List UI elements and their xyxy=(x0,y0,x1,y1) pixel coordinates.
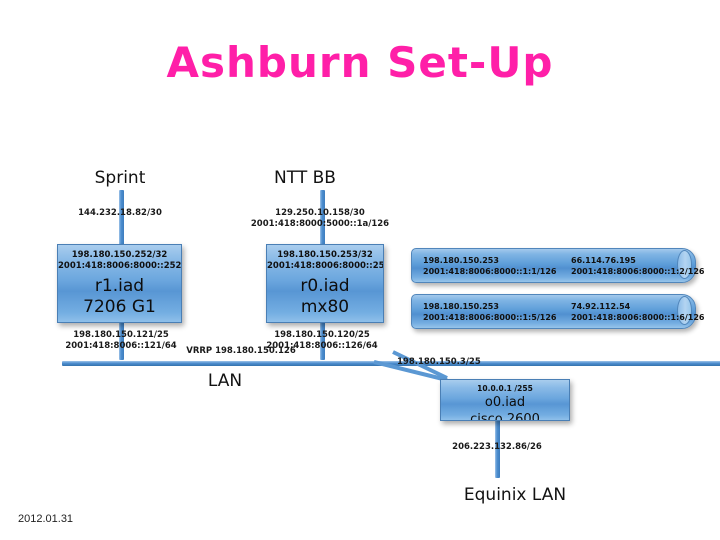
tunnel-2-remote-endpoint: 74.92.112.54 2001:418:8006:8000::1:6/126 xyxy=(571,301,704,323)
tunnel-2-local-v6: 2001:418:8006:8000::1:5/126 xyxy=(423,312,556,323)
tunnel-2-local-endpoint: 198.180.150.253 2001:418:8006:8000::1:5/… xyxy=(423,301,556,323)
network-label-equinix-lan: Equinix LAN xyxy=(415,485,615,505)
node-r0-model: mx80 xyxy=(267,297,383,318)
page-title: Ashburn Set-Up xyxy=(0,38,720,87)
network-label-ntt-bb: NTT BB xyxy=(235,168,375,188)
tunnel-2-local-v4: 198.180.150.253 xyxy=(423,301,556,312)
link-label-sprint-uplink: 144.232.18.82/30 xyxy=(60,208,180,219)
node-o0-model: cisco 2600 xyxy=(441,411,569,421)
link-label-o0-to-equinix: 206.223.132.86/26 xyxy=(437,442,557,453)
node-o0-ip-v4: 10.0.0.1 /255 xyxy=(441,384,569,394)
node-r1-iad[interactable]: 198.180.150.252/32 2001:418:8006:8000::2… xyxy=(57,244,182,323)
tunnel-1-remote-v6: 2001:418:8006:8000::1:2/126 xyxy=(571,266,704,277)
link-label-r1-lan: 198.180.150.121/25 2001:418:8006::121/64 xyxy=(56,330,186,352)
node-o0-hostname: o0.iad xyxy=(441,394,569,411)
node-r0-ip-v4: 198.180.150.253/32 xyxy=(267,250,383,261)
tunnel-2-remote-v4: 74.92.112.54 xyxy=(571,301,704,312)
link-label-line1: 198.180.150.121/25 xyxy=(56,330,186,341)
node-r0-iad[interactable]: 198.180.150.253/32 2001:418:8006:8000::2… xyxy=(266,244,384,323)
link-label-line1: 144.232.18.82/30 xyxy=(60,208,180,219)
link-label-ntt-uplink: 129.250.10.158/30 2001:418:8000:5000::1a… xyxy=(250,208,390,230)
node-r0-hostname: r0.iad xyxy=(267,276,383,297)
lan-bus-line xyxy=(62,361,720,366)
link-label-line2: 2001:418:8000:5000::1a/126 xyxy=(250,219,390,230)
tunnel-2[interactable]: 198.180.150.253 2001:418:8006:8000::1:5/… xyxy=(411,294,694,327)
link-label-line1: 198.180.150.3/25 xyxy=(397,357,507,368)
node-r0-ip-v6: 2001:418:8006:8000::253/128 xyxy=(267,261,383,272)
node-r1-ip-v6: 2001:418:8006:8000::252/128 xyxy=(58,261,181,272)
link-label-line2: 2001:418:8006::121/64 xyxy=(56,341,186,352)
link-label-vrrp: VRRP 198.180.150.126 xyxy=(181,346,301,357)
node-r1-model: 7206 G1 xyxy=(58,297,181,318)
node-r1-hostname: r1.iad xyxy=(58,276,181,297)
tunnel-1-remote-endpoint: 66.114.76.195 2001:418:8006:8000::1:2/12… xyxy=(571,255,704,277)
link-label-line1: 129.250.10.158/30 xyxy=(250,208,390,219)
slide-canvas: Ashburn Set-Up Sprint NTT BB LAN Equinix… xyxy=(0,0,720,540)
link-label-line1: VRRP 198.180.150.126 xyxy=(181,346,301,357)
tunnel-1[interactable]: 198.180.150.253 2001:418:8006:8000::1:1/… xyxy=(411,248,694,281)
tunnel-1-local-v4: 198.180.150.253 xyxy=(423,255,556,266)
tunnel-1-remote-v4: 66.114.76.195 xyxy=(571,255,704,266)
link-label-lan-to-o0: 198.180.150.3/25 xyxy=(397,357,507,368)
tunnel-1-local-v6: 2001:418:8006:8000::1:1/126 xyxy=(423,266,556,277)
network-label-sprint: Sprint xyxy=(60,168,180,188)
link-label-line1: 198.180.150.120/25 xyxy=(257,330,387,341)
tunnel-1-local-endpoint: 198.180.150.253 2001:418:8006:8000::1:1/… xyxy=(423,255,556,277)
node-o0-iad[interactable]: 10.0.0.1 /255 o0.iad cisco 2600 xyxy=(440,379,570,421)
node-r1-ip-v4: 198.180.150.252/32 xyxy=(58,250,181,261)
link-label-line1: 206.223.132.86/26 xyxy=(437,442,557,453)
tunnel-2-remote-v6: 2001:418:8006:8000::1:6/126 xyxy=(571,312,704,323)
date-stamp: 2012.01.31 xyxy=(18,513,73,525)
network-label-lan: LAN xyxy=(175,371,275,391)
